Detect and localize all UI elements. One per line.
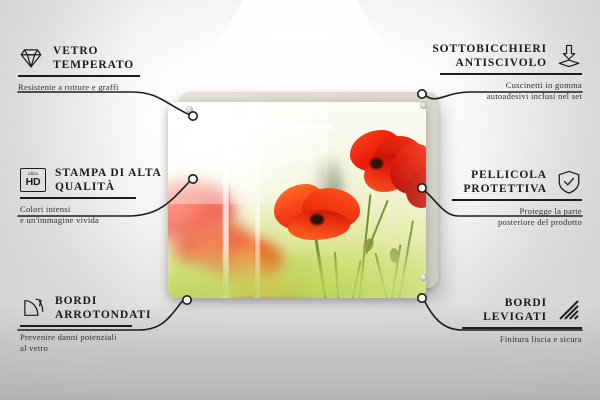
ultra-hd-badge-icon: ultra HD xyxy=(20,168,46,192)
connector-dot-bordi-arrotondati xyxy=(183,296,191,304)
feature-divider xyxy=(462,327,582,329)
feature-title-line1: SOTTOBICCHIERI xyxy=(432,42,547,56)
feature-title-line2: LEVIGATI xyxy=(462,310,547,324)
feature-subtitle-line2: autoadesivi inclusi nel set xyxy=(440,91,582,102)
feature-bordi-arrotondati: BORDI ARROTONDATI Prevenire danni potenz… xyxy=(20,294,132,354)
hd-badge-large-text: HD xyxy=(26,177,41,188)
feature-subtitle: Prevenire danni potenziali al vetro xyxy=(20,332,132,354)
feature-title-line1: VETRO xyxy=(53,44,134,58)
connector-dot-vetro-temperato xyxy=(189,112,197,120)
feature-subtitle-line1: Resistente a rotture e graffi xyxy=(18,82,140,93)
connector-dot-pellicola xyxy=(418,184,426,192)
diagonal-lines-icon xyxy=(556,297,582,323)
feature-subtitle-line1: Protegge la parte xyxy=(452,206,582,217)
feature-divider xyxy=(20,325,132,327)
feature-subtitle: Colori intensi e un'immagine vivida xyxy=(20,204,136,226)
anti-slip-pad-icon xyxy=(556,43,582,69)
feature-subtitle-line1: Cuscinetti in gomma xyxy=(440,80,582,91)
feature-subtitle-line2: e un'immagine vivida xyxy=(20,215,136,226)
rounded-corner-icon xyxy=(20,295,46,321)
feature-subtitle-line1: Colori intensi xyxy=(20,204,136,215)
feature-divider xyxy=(20,197,136,199)
feature-vetro-temperato: VETRO TEMPERATO Resistente a rotture e g… xyxy=(18,44,140,93)
feature-pellicola-protettiva: PELLICOLA PROTETTIVA Protegge la parte p… xyxy=(452,168,582,228)
connector-vetro-temperato xyxy=(18,92,190,115)
feature-divider xyxy=(18,75,140,77)
feature-subtitle: Resistente a rotture e graffi xyxy=(18,82,140,93)
feature-title-line2: TEMPERATO xyxy=(53,58,134,72)
feature-title-line2: ANTISCIVOLO xyxy=(432,56,547,70)
feature-subtitle-line2: al vetro xyxy=(20,343,132,354)
feature-subtitle: Finitura liscia e sicura xyxy=(462,334,582,345)
connector-dot-sottobicchieri xyxy=(418,90,426,98)
feature-title-line1: STAMPA DI ALTA xyxy=(55,166,162,180)
feature-title-line2: ARROTONDATI xyxy=(55,308,151,322)
feature-title-line2: QUALITÀ xyxy=(55,180,162,194)
feature-title-line1: BORDI xyxy=(462,296,547,310)
feature-title-line1: BORDI xyxy=(55,294,151,308)
feature-title-line2: PROTETTIVA xyxy=(452,182,547,196)
shield-check-icon xyxy=(556,169,582,195)
diamond-icon xyxy=(18,45,44,71)
feature-divider xyxy=(440,73,582,75)
feature-subtitle: Protegge la parte posteriore del prodott… xyxy=(452,206,582,228)
feature-divider xyxy=(452,199,582,201)
connector-dot-stampa xyxy=(189,175,197,183)
feature-sottobicchieri-antiscivolo: SOTTOBICCHIERI ANTISCIVOLO Cuscinetti in… xyxy=(440,42,582,102)
infographic-canvas: VETRO TEMPERATO Resistente a rotture e g… xyxy=(0,0,600,400)
connector-dot-bordi-levigati xyxy=(418,294,426,302)
feature-subtitle-line2: posteriore del prodotto xyxy=(452,217,582,228)
feature-bordi-levigati: BORDI LEVIGATI Finitura liscia e sicura xyxy=(462,296,582,345)
feature-subtitle: Cuscinetti in gomma autoadesivi inclusi … xyxy=(440,80,582,102)
feature-subtitle-line1: Finitura liscia e sicura xyxy=(462,334,582,345)
feature-stampa-di-alta-qualita: ultra HD STAMPA DI ALTA QUALITÀ Colori i… xyxy=(20,166,136,226)
feature-subtitle-line1: Prevenire danni potenziali xyxy=(20,332,132,343)
feature-title-line1: PELLICOLA xyxy=(452,168,547,182)
